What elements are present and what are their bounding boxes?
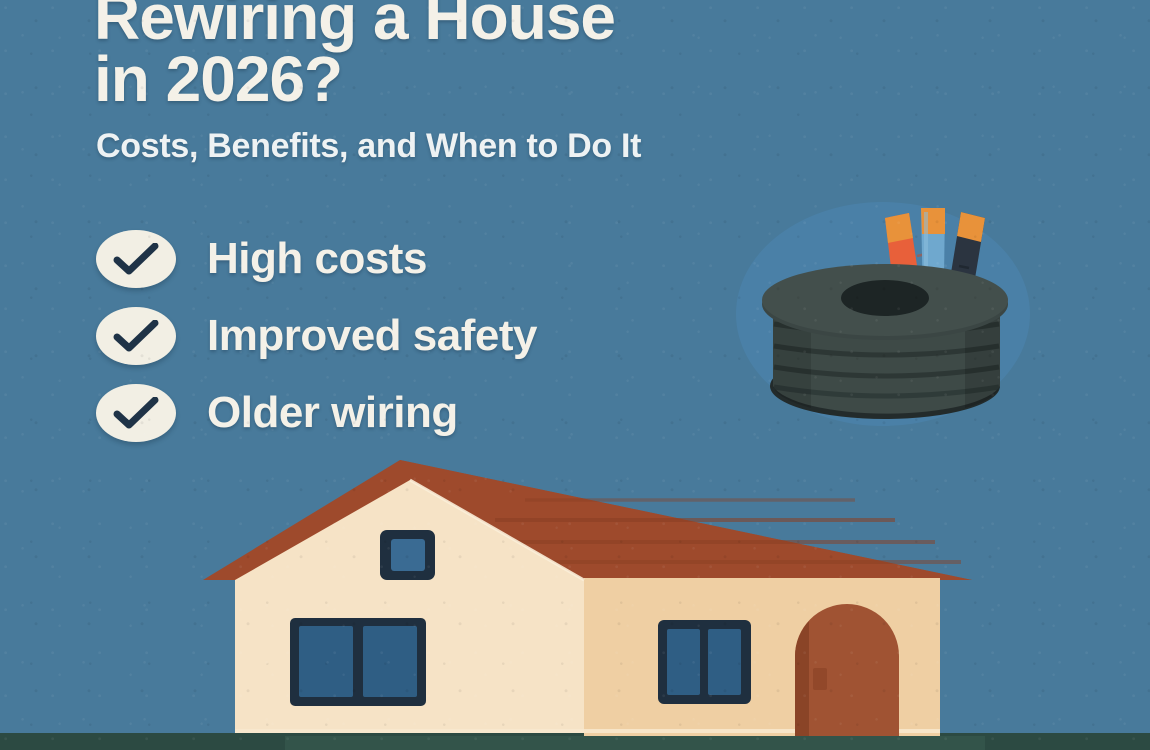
list-item: Improved safety	[96, 297, 537, 374]
left-window	[290, 618, 426, 706]
list-item: Older wiring	[96, 374, 537, 451]
right-window	[658, 620, 751, 704]
cable-spool-icon	[733, 196, 1038, 446]
attic-window	[380, 530, 435, 580]
house-icon	[195, 458, 985, 738]
page-title-line-2: in 2026?	[94, 48, 994, 110]
infographic-poster: Rewiring a House in 2026? Costs, Benefit…	[0, 0, 1150, 750]
door-handle	[813, 668, 827, 690]
page-subtitle: Costs, Benefits, and When to Do It	[96, 126, 641, 166]
front-door	[795, 604, 899, 736]
list-item: High costs	[96, 220, 537, 297]
check-circle-icon	[96, 307, 176, 365]
list-item-label: High costs	[207, 236, 427, 282]
list-item-label: Improved safety	[207, 313, 537, 359]
list-item-label: Older wiring	[207, 390, 458, 436]
check-circle-icon	[96, 230, 176, 288]
page-title-line-1: Rewiring a House	[94, 0, 994, 48]
check-circle-icon	[96, 384, 176, 442]
ground-accent	[285, 736, 985, 750]
benefits-list: High costs Improved safety Older wiring	[96, 220, 537, 451]
page-title: Rewiring a House in 2026?	[94, 0, 994, 110]
